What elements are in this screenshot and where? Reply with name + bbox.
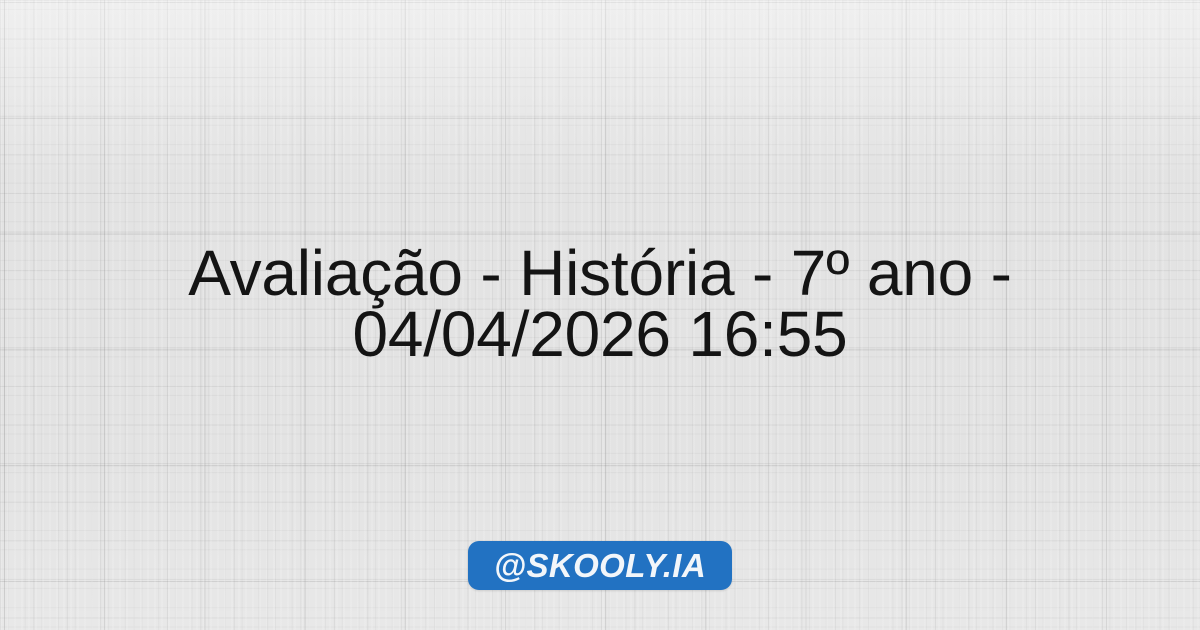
badge-container: @SKOOLY.IA	[0, 541, 1200, 590]
brand-handle-badge: @SKOOLY.IA	[468, 541, 732, 590]
card-content: Avaliação - História - 7º ano - 04/04/20…	[0, 0, 1200, 630]
preview-card: Avaliação - História - 7º ano - 04/04/20…	[0, 0, 1200, 630]
page-title: Avaliação - História - 7º ano - 04/04/20…	[0, 243, 1200, 365]
